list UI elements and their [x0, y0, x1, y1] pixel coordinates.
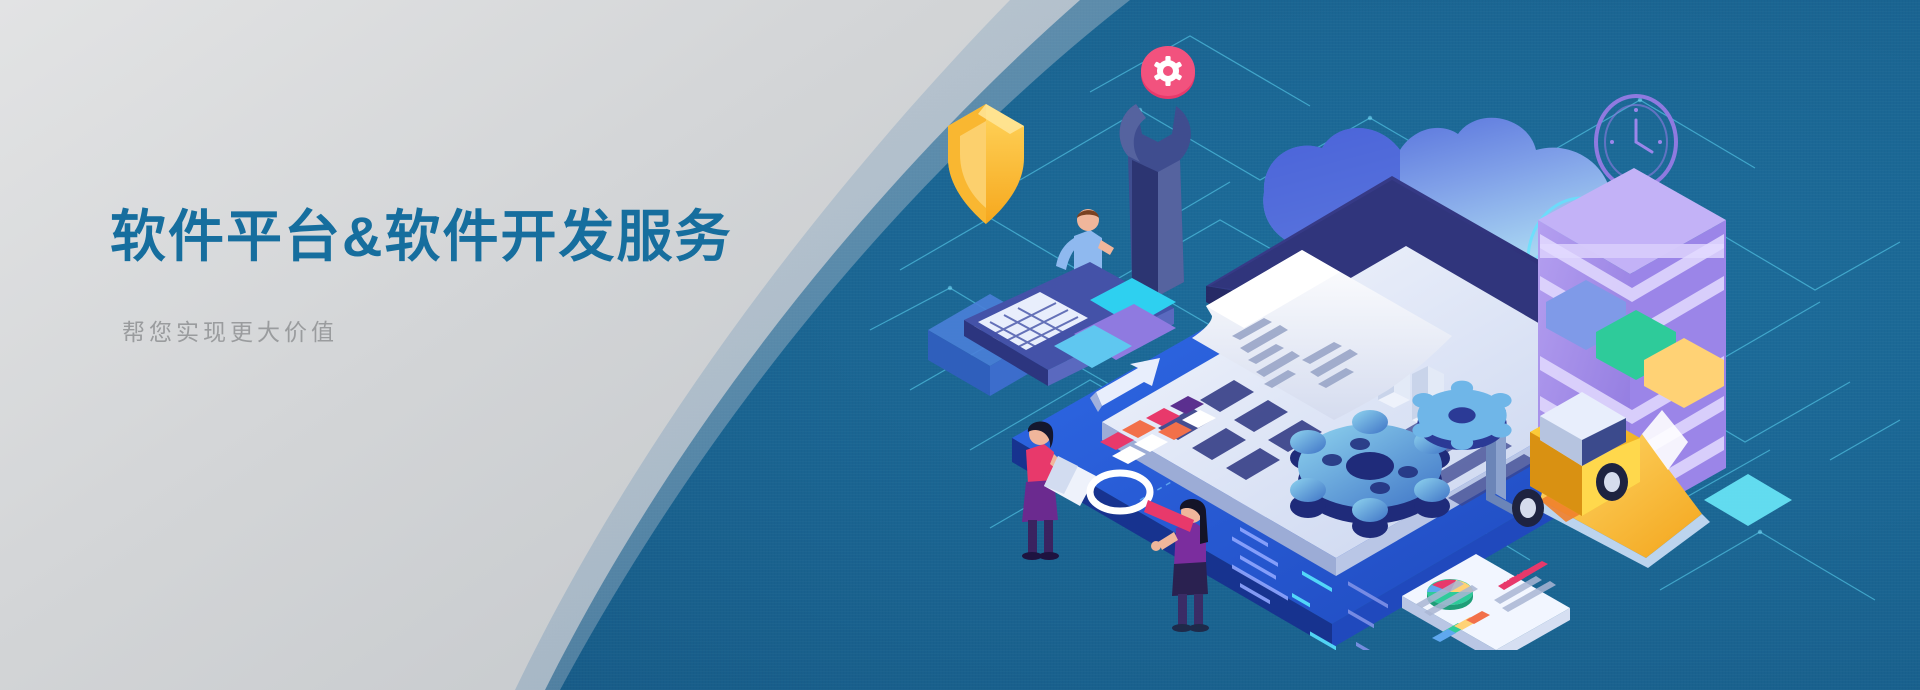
hero-banner: 软件平台&软件开发服务 帮您实现更大价值 [0, 0, 1920, 690]
shield-icon [948, 104, 1024, 224]
hero-illustration: NEWS [840, 30, 1920, 650]
hero-copy: 软件平台&软件开发服务 帮您实现更大价值 [110, 205, 870, 347]
page-subtitle: 帮您实现更大价值 [122, 313, 870, 347]
page-title: 软件平台&软件开发服务 [110, 205, 870, 269]
wrench-icon [1120, 104, 1191, 296]
gear-badge-icon [1141, 46, 1195, 99]
